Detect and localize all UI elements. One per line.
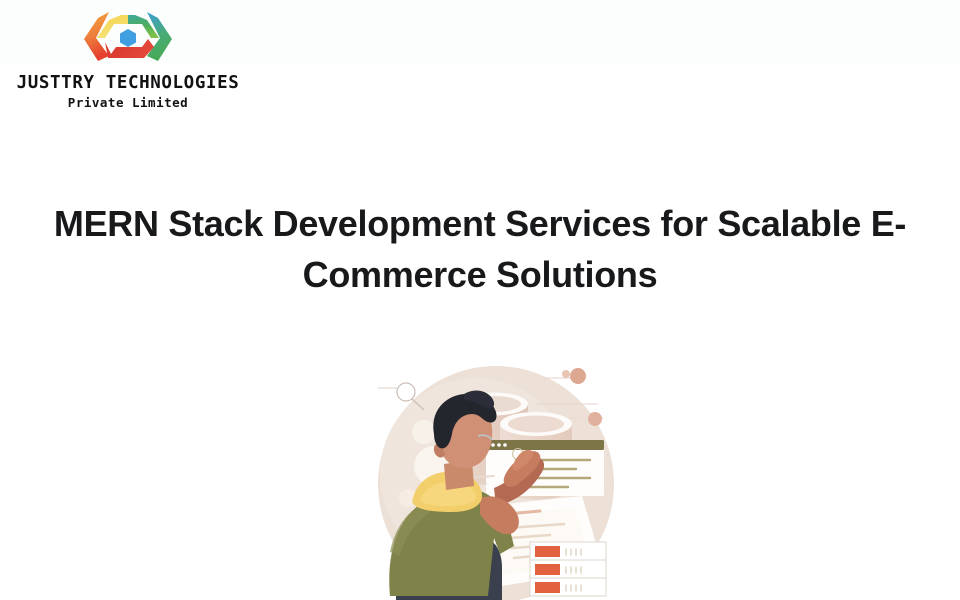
hero-illustration [368,356,624,600]
page-root: JUSTTRY TECHNOLOGIES Private Limited MER… [0,0,960,600]
brand-subtitle: Private Limited [8,96,248,109]
justtry-hexagon-logo-icon [78,6,178,68]
developer-pointing-at-browser-illustration-icon [368,356,624,600]
brand-name: JUSTTRY TECHNOLOGIES [8,74,248,92]
page-title: MERN Stack Development Services for Scal… [30,198,930,300]
illustration-table [530,542,606,596]
site-logo[interactable]: JUSTTRY TECHNOLOGIES Private Limited [8,6,248,110]
